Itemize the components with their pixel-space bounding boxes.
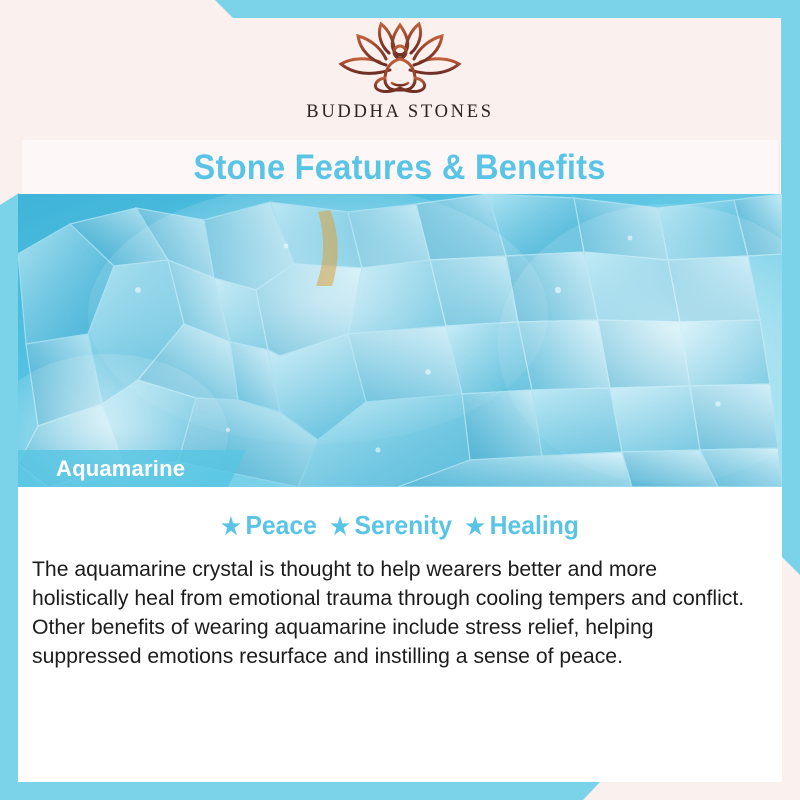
lotus-meditation-logo-icon — [334, 22, 466, 96]
decor-band-bottom — [0, 781, 620, 800]
decor-band-left — [0, 193, 19, 800]
feature-label: Peace — [245, 510, 316, 540]
page-title: Stone Features & Benefits — [194, 148, 606, 188]
star-icon: ★ — [221, 513, 241, 539]
star-icon: ★ — [330, 513, 350, 539]
stone-description: The aquamarine crystal is thought to hel… — [32, 555, 757, 671]
content-panel: ★Peace★Serenity★Healing The aquamarine c… — [18, 487, 782, 782]
feature-item: ★Serenity — [317, 510, 452, 541]
stone-photo — [18, 194, 782, 487]
stone-name-badge: Aquamarine — [18, 450, 246, 487]
feature-label: Serenity — [355, 510, 452, 540]
star-icon: ★ — [465, 513, 485, 539]
stone-name-text: Aquamarine — [56, 456, 185, 482]
feature-item: ★Peace — [221, 510, 317, 541]
title-banner: Stone Features & Benefits — [22, 140, 778, 196]
feature-label: Healing — [490, 510, 579, 540]
feature-keywords: ★Peace★Serenity★Healing — [37, 510, 763, 541]
brand-name: BUDDHA STONES — [306, 102, 493, 123]
brand-header: BUDDHA STONES — [0, 0, 800, 150]
feature-item: ★Healing — [452, 510, 579, 541]
